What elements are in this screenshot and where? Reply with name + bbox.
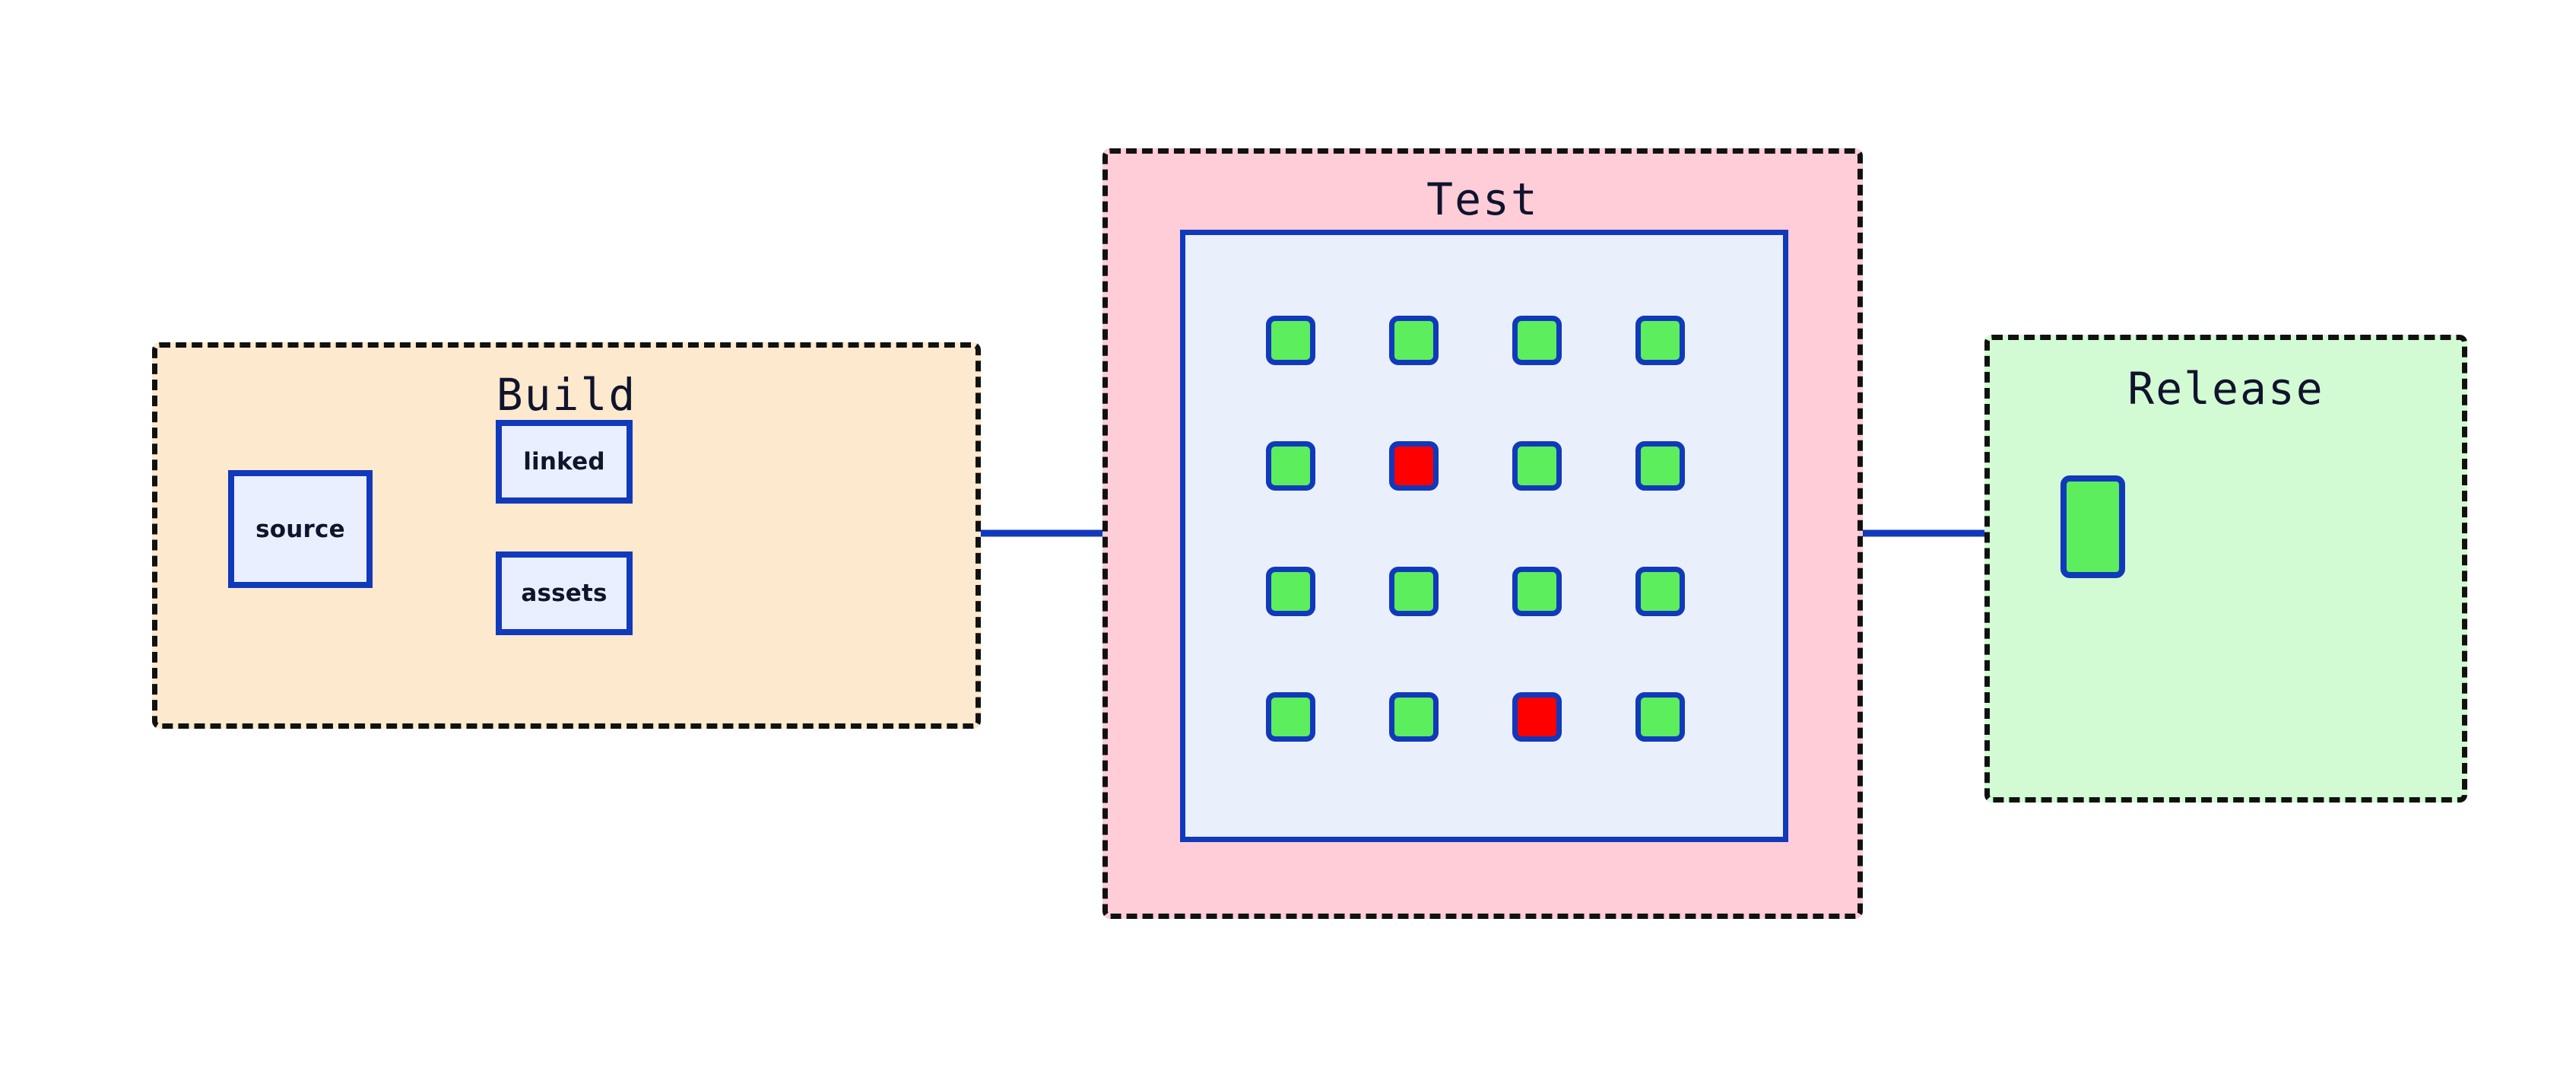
stage-release-title: Release bbox=[1990, 363, 2462, 415]
stage-release[interactable]: Release bbox=[1984, 335, 2467, 803]
test-cell-pass[interactable] bbox=[1512, 567, 1562, 616]
test-cell-pass[interactable] bbox=[1635, 441, 1685, 491]
test-cell-pass[interactable] bbox=[1266, 441, 1315, 491]
test-cell-pass[interactable] bbox=[1389, 316, 1439, 365]
node-assets[interactable]: assets bbox=[496, 551, 633, 635]
test-cell-pass[interactable] bbox=[1512, 441, 1562, 491]
node-source-label: source bbox=[255, 516, 345, 543]
stage-test-title: Test bbox=[1108, 173, 1857, 225]
test-cell-pass[interactable] bbox=[1389, 567, 1439, 616]
release-artifact-bar[interactable] bbox=[2060, 475, 2125, 578]
stage-build-title: Build bbox=[157, 369, 976, 421]
node-assets-label: assets bbox=[521, 580, 607, 607]
test-cell-fail[interactable] bbox=[1389, 441, 1439, 491]
node-linked-label: linked bbox=[523, 448, 605, 475]
test-cell-pass[interactable] bbox=[1266, 316, 1315, 365]
test-cell-pass[interactable] bbox=[1635, 567, 1685, 616]
node-source[interactable]: source bbox=[228, 470, 373, 588]
test-cell-pass[interactable] bbox=[1512, 316, 1562, 365]
test-results-grid bbox=[1266, 316, 1703, 757]
test-cell-pass[interactable] bbox=[1635, 692, 1685, 742]
node-linked[interactable]: linked bbox=[496, 420, 633, 504]
test-cell-pass[interactable] bbox=[1266, 692, 1315, 742]
test-cell-pass[interactable] bbox=[1389, 692, 1439, 742]
test-cell-pass[interactable] bbox=[1635, 316, 1685, 365]
test-cell-fail[interactable] bbox=[1512, 692, 1562, 742]
test-cell-pass[interactable] bbox=[1266, 567, 1315, 616]
